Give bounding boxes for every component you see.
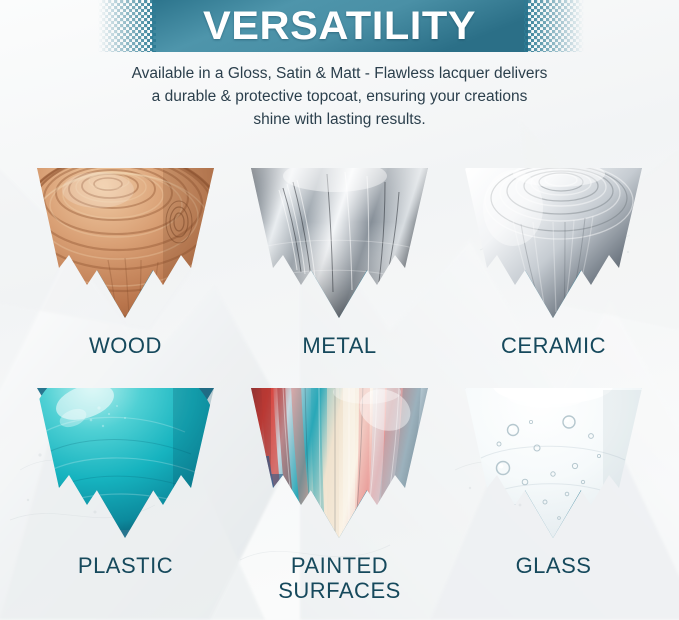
materials-grid: WOOD bbox=[0, 150, 679, 620]
ceramic-sphere-icon bbox=[441, 150, 666, 330]
material-label-glass: GLASS bbox=[441, 553, 666, 578]
page-title: VERSATILITY bbox=[0, 0, 679, 52]
material-tile-plastic[interactable]: PLASTIC bbox=[13, 370, 238, 550]
wood-sphere-icon bbox=[13, 150, 238, 330]
header-banner: VERSATILITY bbox=[0, 0, 679, 52]
painted-sphere-icon bbox=[227, 370, 452, 550]
material-label-painted: PAINTED SURFACES bbox=[227, 553, 452, 603]
material-tile-metal[interactable]: METAL bbox=[227, 150, 452, 330]
material-tile-wood[interactable]: WOOD bbox=[13, 150, 238, 330]
subtitle-line-2: a durable & protective topcoat, ensuring… bbox=[62, 85, 617, 108]
subtitle-text: Available in a Gloss, Satin & Matt - Fla… bbox=[0, 62, 679, 131]
metal-sphere-icon bbox=[227, 150, 452, 330]
glass-sphere-icon bbox=[441, 370, 666, 550]
material-label-wood: WOOD bbox=[13, 333, 238, 358]
plastic-sphere-icon bbox=[13, 370, 238, 550]
subtitle-line-1: Available in a Gloss, Satin & Matt - Fla… bbox=[62, 62, 617, 85]
material-tile-painted[interactable]: PAINTED SURFACES bbox=[227, 370, 452, 550]
material-label-metal: METAL bbox=[227, 333, 452, 358]
material-tile-glass[interactable]: GLASS bbox=[441, 370, 666, 550]
material-label-ceramic: CERAMIC bbox=[441, 333, 666, 358]
material-label-plastic: PLASTIC bbox=[13, 553, 238, 578]
material-tile-ceramic[interactable]: CERAMIC bbox=[441, 150, 666, 330]
subtitle-line-3: shine with lasting results. bbox=[62, 108, 617, 131]
